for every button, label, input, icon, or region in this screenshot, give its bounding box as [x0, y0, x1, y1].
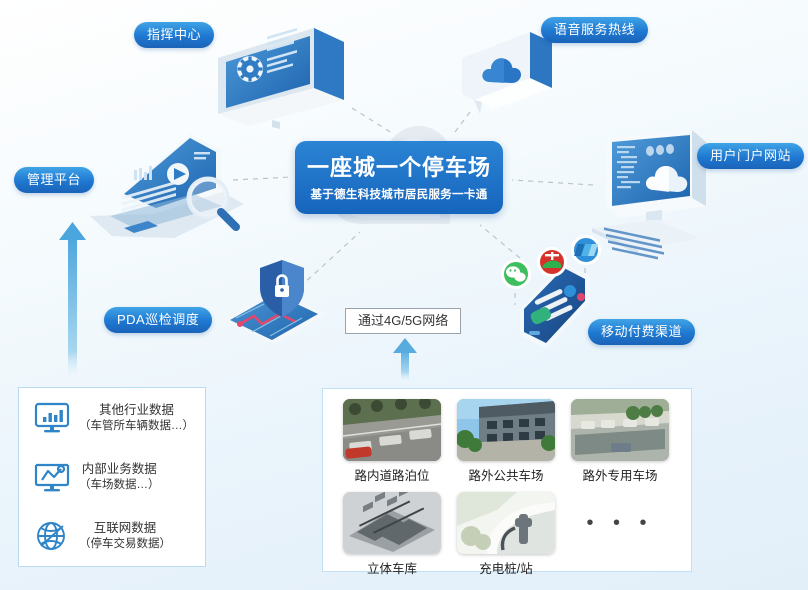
infographic-canvas: 一座城一个停车场 基于德生科技城市居民服务一卡通: [0, 0, 808, 590]
data-row-title: 互联网数据: [79, 520, 171, 536]
label-management-platform[interactable]: 管理平台: [14, 167, 94, 193]
scene-caption: 充电桩/站: [449, 561, 563, 577]
scene-more-cell: • • •: [563, 492, 677, 577]
mechanical-garage-photo: [343, 492, 441, 554]
scene-more-dots: • • •: [563, 492, 677, 554]
data-row-sub: （停车交易数据）: [79, 536, 171, 552]
banner-subtitle: 基于德生科技城市居民服务一卡通: [311, 186, 488, 202]
data-row-text: 内部业务数据 （车场数据…）: [79, 461, 160, 493]
center-banner: 一座城一个停车场 基于德生科技城市居民服务一卡通: [295, 141, 503, 214]
scene-cell[interactable]: 路外专用车场: [563, 399, 677, 484]
wechat-pay-bubble: [498, 256, 534, 292]
data-row-sub: （车场数据…）: [79, 477, 160, 493]
scene-cell[interactable]: 路外公共车场: [449, 399, 563, 484]
monitor-line-chart-icon: [33, 460, 71, 494]
data-sources-panel: 其他行业数据 （车管所车辆数据…） 内部业务数据 （车场数据…）: [18, 387, 206, 567]
command-center-monitor: [210, 22, 350, 132]
monitor-bar-chart-icon: [33, 401, 71, 435]
label-command-center[interactable]: 指挥中心: [134, 22, 214, 48]
arrow-data-to-platform: [58, 222, 88, 384]
arrow-scene-to-network: [390, 338, 420, 384]
scene-cell[interactable]: 路内道路泊位: [335, 399, 449, 484]
data-row[interactable]: 互联网数据 （停车交易数据）: [19, 506, 205, 565]
scene-cell[interactable]: 充电桩/站: [449, 492, 563, 577]
data-row[interactable]: 其他行业数据 （车管所车辆数据…）: [19, 388, 205, 447]
data-row-text: 互联网数据 （停车交易数据）: [79, 520, 171, 552]
parking-scenes-panel: 路内道路泊位: [322, 388, 692, 572]
scene-caption: 路外公共车场: [449, 468, 563, 484]
label-pda-dispatch[interactable]: PDA巡检调度: [104, 307, 212, 333]
data-row-title: 其他行业数据: [79, 402, 194, 418]
data-row[interactable]: 内部业务数据 （车场数据…）: [19, 447, 205, 506]
globe-network-icon: [33, 519, 71, 553]
off-street-public-lot-photo: [457, 399, 555, 461]
alipay-bubble: [534, 244, 570, 280]
scene-caption: 路外专用车场: [563, 468, 677, 484]
scene-cell[interactable]: 立体车库: [335, 492, 449, 577]
management-laptop: [82, 132, 247, 252]
data-row-text: 其他行业数据 （车管所车辆数据…）: [79, 402, 194, 434]
data-row-sub: （车管所车辆数据…）: [79, 418, 194, 434]
scene-caption: 路内道路泊位: [335, 468, 449, 484]
ev-charging-photo: [457, 492, 555, 554]
label-voice-hotline[interactable]: 语音服务热线: [541, 17, 648, 43]
unionpay-bubble: [568, 232, 604, 268]
banner-title: 一座城一个停车场: [307, 154, 491, 182]
on-street-parking-photo: [343, 399, 441, 461]
data-row-title: 内部业务数据: [79, 461, 160, 477]
off-street-private-lot-photo: [571, 399, 669, 461]
scene-caption: 立体车库: [335, 561, 449, 577]
label-mobile-payment[interactable]: 移动付费渠道: [588, 319, 695, 345]
label-network[interactable]: 通过4G/5G网络: [345, 308, 461, 334]
pda-tablet-shield: [218, 258, 333, 350]
label-portal-site[interactable]: 用户门户网站: [697, 143, 804, 169]
